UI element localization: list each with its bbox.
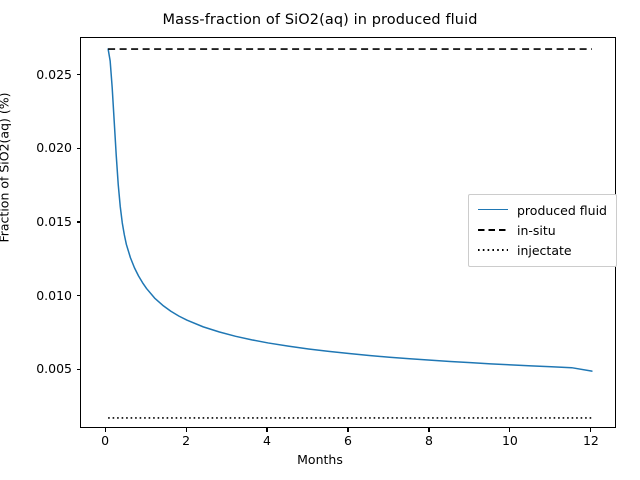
legend-item: produced fluid	[478, 200, 607, 220]
x-tick-mark	[105, 428, 106, 432]
page-title: Mass-fraction of SiO2(aq) in produced fl…	[0, 12, 640, 28]
x-axis-label: Months	[0, 452, 640, 467]
legend-box: produced fluid in-situ injectate	[468, 194, 617, 267]
x-tick-mark	[509, 428, 510, 432]
x-tick-label: 8	[399, 433, 459, 448]
legend-swatch-produced-fluid	[478, 204, 508, 216]
y-tick-mark	[77, 295, 81, 296]
y-tick-mark	[77, 221, 81, 222]
y-tick-mark	[77, 369, 81, 370]
legend-label-produced-fluid: produced fluid	[517, 203, 607, 218]
x-tick-label: 0	[75, 433, 135, 448]
legend-item: in-situ	[478, 220, 607, 240]
x-tick-mark	[428, 428, 429, 432]
x-tick-mark	[186, 428, 187, 432]
y-tick-mark	[77, 148, 81, 149]
x-tick-label: 10	[480, 433, 540, 448]
x-tick-label: 6	[318, 433, 378, 448]
y-axis-label: Fraction of SiO2(aq) (%)	[0, 0, 12, 338]
x-tick-label: 4	[237, 433, 297, 448]
x-tick-label: 12	[561, 433, 621, 448]
legend-item: injectate	[478, 240, 607, 260]
x-tick-mark	[266, 428, 267, 432]
y-tick-label: 0.005	[0, 361, 72, 376]
x-tick-mark	[590, 428, 591, 432]
y-tick-mark	[77, 74, 81, 75]
legend-swatch-injectate	[478, 244, 508, 256]
figure-canvas: Mass-fraction of SiO2(aq) in produced fl…	[0, 0, 640, 480]
legend-swatch-in-situ	[478, 224, 508, 236]
x-tick-mark	[347, 428, 348, 432]
legend-label-in-situ: in-situ	[517, 223, 556, 238]
legend-label-injectate: injectate	[517, 243, 572, 258]
x-tick-label: 2	[156, 433, 216, 448]
